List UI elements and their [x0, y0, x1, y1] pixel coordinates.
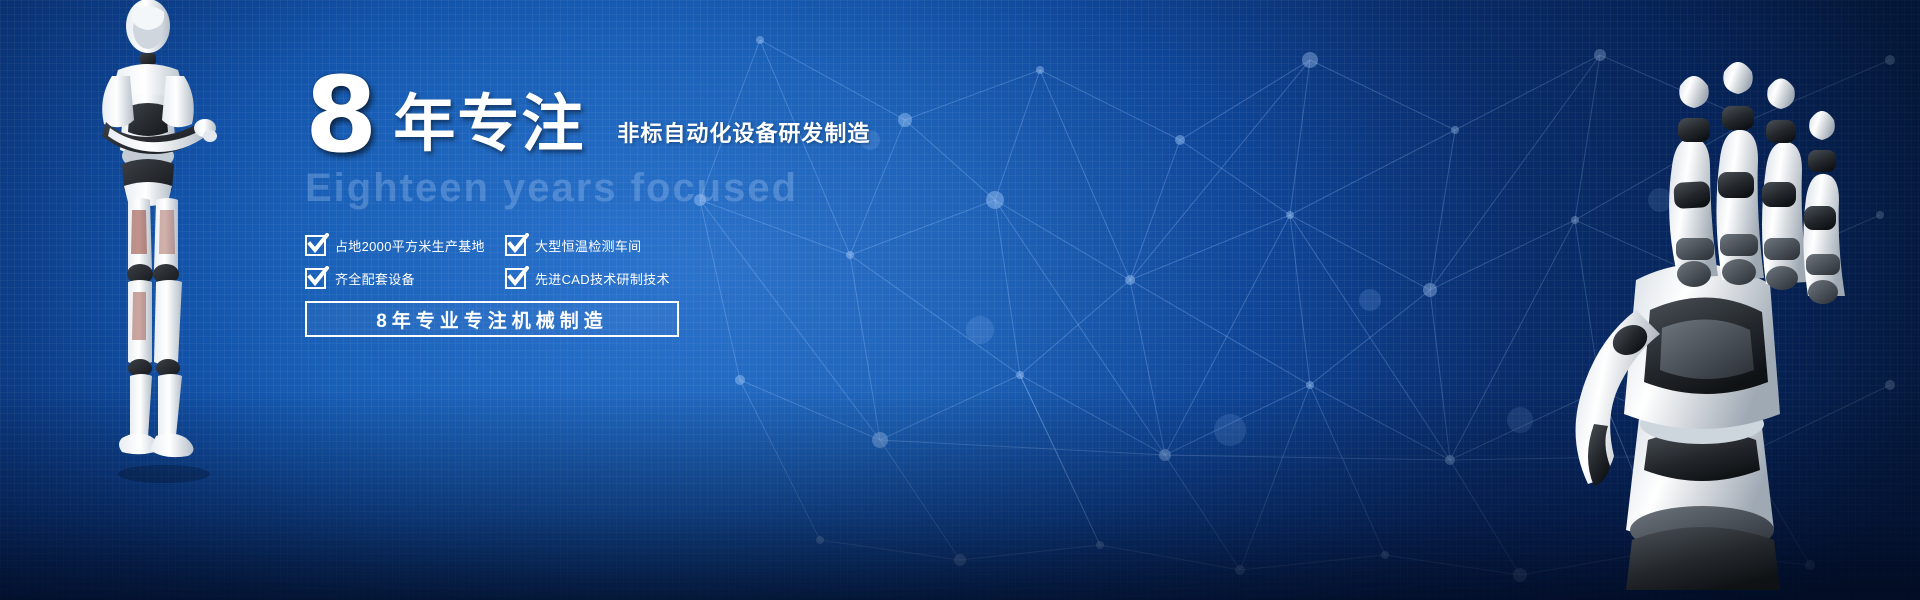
feature-label: 占地2000平方米生产基地	[335, 236, 485, 255]
robot-hand-graphic	[1490, 10, 1920, 590]
banner-copy-block: 8 年专注 非标自动化设备研发制造 Eighteen years focused…	[305, 70, 1065, 337]
cta-banner-box[interactable]: 8年专业专注机械制造	[305, 301, 679, 337]
feature-item: 大型恒温检测车间	[505, 235, 705, 256]
feature-label: 大型恒温检测车间	[535, 236, 641, 255]
feature-label: 齐全配套设备	[335, 269, 415, 288]
check-icon	[305, 268, 326, 289]
banner-subtitle: 非标自动化设备研发制造	[617, 116, 870, 148]
feature-row: 占地2000平方米生产基地 大型恒温检测车间	[305, 235, 705, 256]
hero-banner: 8 年专注 非标自动化设备研发制造 Eighteen years focused…	[0, 0, 1920, 600]
feature-list: 占地2000平方米生产基地 大型恒温检测车间 齐全配套设备	[305, 235, 705, 289]
ghost-tagline: Eighteen years focused	[305, 166, 1065, 211]
check-icon	[505, 268, 526, 289]
headline-chinese: 年专注	[393, 94, 585, 156]
headline-number: 8	[305, 70, 375, 162]
check-icon	[305, 235, 326, 256]
feature-item: 齐全配套设备	[305, 268, 505, 289]
feature-label: 先进CAD技术研制技术	[535, 269, 670, 288]
check-icon	[505, 235, 526, 256]
feature-item: 先进CAD技术研制技术	[505, 268, 705, 289]
feature-item: 占地2000平方米生产基地	[305, 235, 505, 256]
feature-row: 齐全配套设备 先进CAD技术研制技术	[305, 268, 705, 289]
headline-row: 8 年专注 非标自动化设备研发制造	[305, 70, 1065, 162]
humanoid-robot-graphic	[60, 0, 270, 496]
cta-text: 8年专业专注机械制造	[376, 306, 608, 333]
